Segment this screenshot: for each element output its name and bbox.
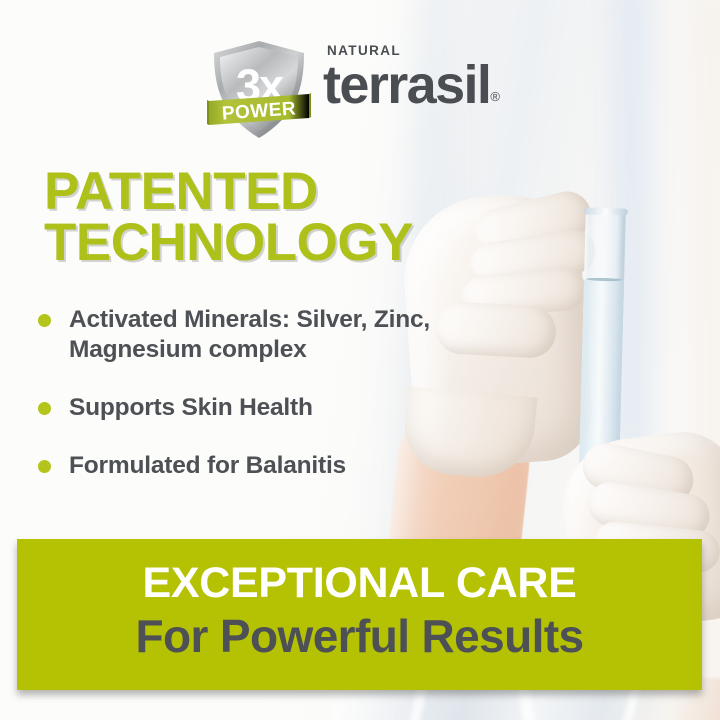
tagline-secondary: For Powerful Results (17, 613, 702, 659)
shield-power-multiplier-label: 3x (236, 60, 284, 111)
list-item: Formulated for Balanitis (38, 451, 458, 481)
brand-name: terrasil® (323, 60, 500, 112)
list-item-label: Supports Skin Health (69, 393, 313, 423)
headline-line-1: PATENTED (44, 162, 318, 221)
brand-logo: 3x POWER NATURAL terrasil® (207, 38, 517, 143)
list-item-label: Formulated for Balanitis (69, 451, 346, 481)
list-item: Supports Skin Health (38, 393, 458, 423)
page-title: PATENTED TECHNOLOGY (44, 166, 474, 269)
tagline-banner: EXCEPTIONAL CARE For Powerful Results (17, 539, 702, 690)
bullet-dot-icon (38, 460, 51, 473)
feature-list: Activated Minerals: Silver, Zinc, Magnes… (38, 305, 458, 509)
registered-trademark-icon: ® (490, 89, 500, 104)
shield-icon: 3x (207, 38, 311, 142)
tagline-primary: EXCEPTIONAL CARE (17, 562, 702, 605)
brand-wordmark: NATURAL terrasil® (323, 44, 523, 111)
bullet-dot-icon (38, 402, 51, 415)
list-item: Activated Minerals: Silver, Zinc, Magnes… (38, 305, 458, 365)
headline-line-2: TECHNOLOGY (44, 217, 474, 268)
list-item-label: Activated Minerals: Silver, Zinc, Magnes… (69, 305, 458, 365)
brand-name-text: terrasil (323, 55, 490, 115)
product-marketing-image: 3x POWER NATURAL terrasil® PATENTED TECH… (0, 0, 720, 720)
bullet-dot-icon (38, 314, 51, 327)
